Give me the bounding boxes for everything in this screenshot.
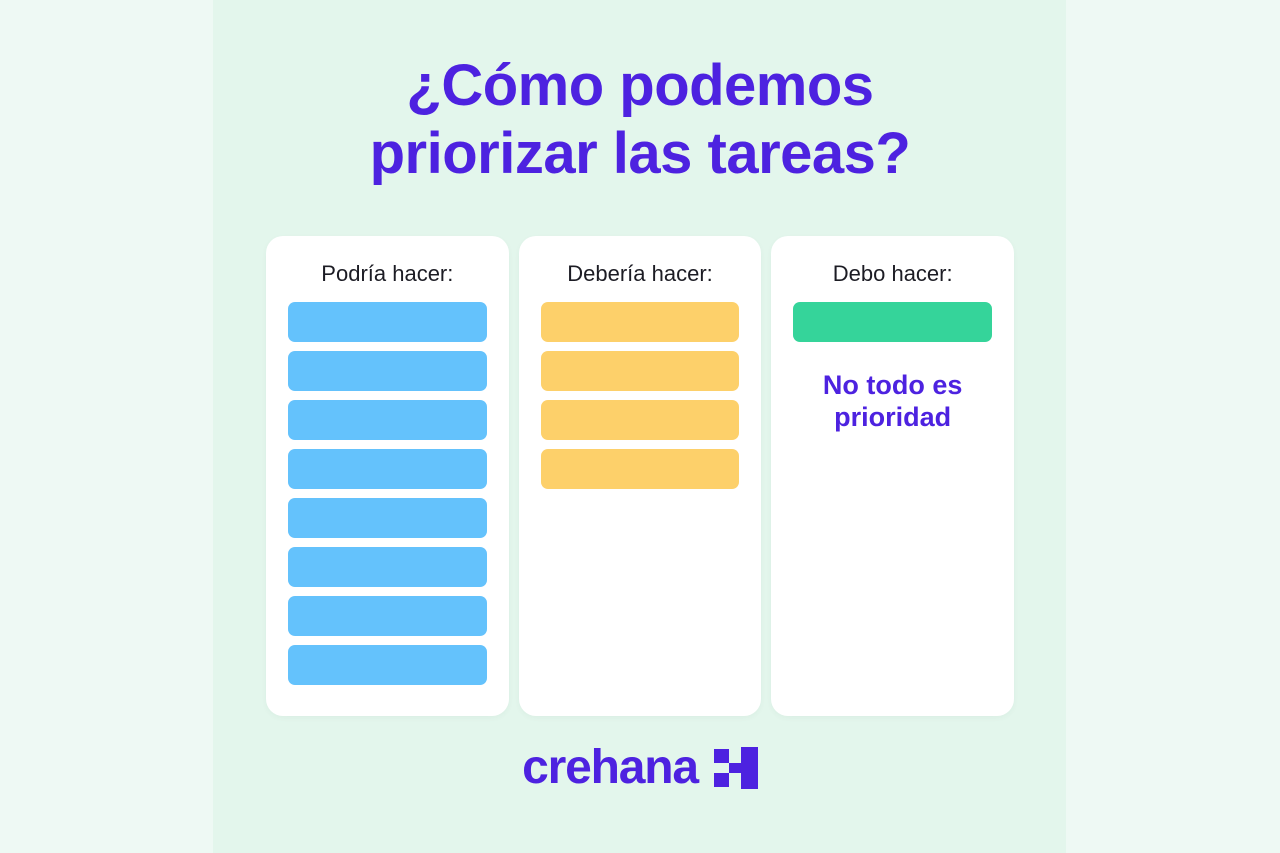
column-card-debo-hacer[interactable]: Debo hacer:No todo es prioridad bbox=[771, 236, 1014, 716]
task-bar[interactable] bbox=[793, 302, 992, 342]
logo-wordmark: crehana bbox=[522, 744, 698, 792]
task-bar[interactable] bbox=[288, 351, 487, 391]
task-bar[interactable] bbox=[288, 645, 487, 685]
task-bar[interactable] bbox=[288, 498, 487, 538]
task-bar[interactable] bbox=[541, 400, 740, 440]
column-card-podria-hacer[interactable]: Podría hacer: bbox=[266, 236, 509, 716]
task-bar[interactable] bbox=[288, 547, 487, 587]
priority-board: Podría hacer:Debería hacer:Debo hacer:No… bbox=[266, 236, 1014, 716]
task-bar[interactable] bbox=[541, 302, 740, 342]
poster-canvas: ¿Cómo podemos priorizar las tareas? Podr… bbox=[0, 0, 1280, 853]
task-bar[interactable] bbox=[541, 351, 740, 391]
task-list-deberia-hacer bbox=[541, 302, 740, 489]
crehana-h-mark-icon bbox=[714, 747, 758, 789]
task-list-debo-hacer bbox=[793, 302, 992, 342]
task-bar[interactable] bbox=[288, 596, 487, 636]
brand-logo: crehana bbox=[0, 744, 1280, 792]
column-title-debo-hacer: Debo hacer: bbox=[833, 262, 953, 286]
page-title: ¿Cómo podemos priorizar las tareas? bbox=[0, 52, 1280, 189]
column-title-podria-hacer: Podría hacer: bbox=[321, 262, 453, 286]
task-bar[interactable] bbox=[541, 449, 740, 489]
task-bar[interactable] bbox=[288, 400, 487, 440]
task-bar[interactable] bbox=[288, 449, 487, 489]
poster-content: ¿Cómo podemos priorizar las tareas? Podr… bbox=[0, 0, 1280, 853]
column-card-deberia-hacer[interactable]: Debería hacer: bbox=[519, 236, 762, 716]
task-bar[interactable] bbox=[288, 302, 487, 342]
column-title-deberia-hacer: Debería hacer: bbox=[567, 262, 713, 286]
task-list-podria-hacer bbox=[288, 302, 487, 685]
column-note-debo-hacer: No todo es prioridad bbox=[823, 370, 963, 433]
